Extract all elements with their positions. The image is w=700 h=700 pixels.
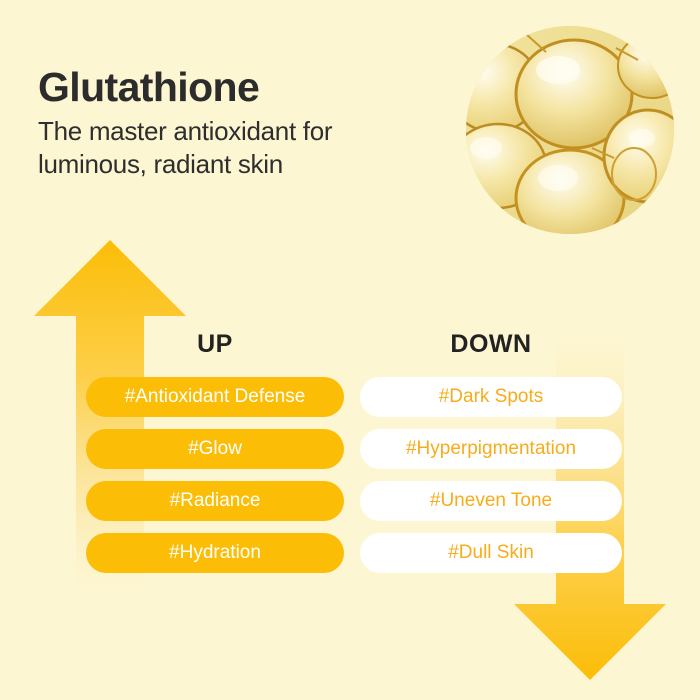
down-column-heading: DOWN	[360, 330, 622, 359]
oil-droplets-photo	[466, 26, 674, 234]
page-title: Glutathione	[38, 66, 438, 109]
page-subtitle: The master antioxidant for luminous, rad…	[38, 115, 438, 182]
header-block: Glutathione The master antioxidant for l…	[38, 66, 438, 182]
up-column-heading: UP	[86, 330, 344, 359]
up-pill-radiance: #Radiance	[86, 481, 344, 521]
infographic-canvas: Glutathione The master antioxidant for l…	[0, 0, 700, 700]
down-column: DOWN #Dark Spots #Hyperpigmentation #Une…	[360, 330, 622, 585]
down-pill-dark-spots: #Dark Spots	[360, 377, 622, 417]
up-pill-glow: #Glow	[86, 429, 344, 469]
oil-droplets-image	[466, 26, 674, 234]
up-pill-antioxidant-defense: #Antioxidant Defense	[86, 377, 344, 417]
down-pill-dull-skin: #Dull Skin	[360, 533, 622, 573]
down-pill-hyperpigmentation: #Hyperpigmentation	[360, 429, 622, 469]
up-pill-hydration: #Hydration	[86, 533, 344, 573]
up-column: UP #Antioxidant Defense #Glow #Radiance …	[86, 330, 344, 585]
down-pill-uneven-tone: #Uneven Tone	[360, 481, 622, 521]
